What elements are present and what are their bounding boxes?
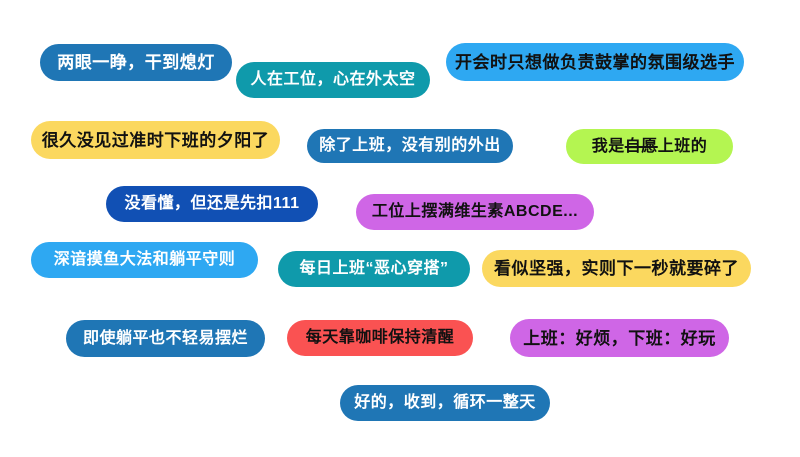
tag-label: 即使躺平也不轻易摆烂	[83, 331, 248, 347]
tag-label: 每天靠咖啡保持清醒	[306, 330, 455, 346]
tag-pill[interactable]: 除了上班，没有别的外出	[307, 129, 513, 163]
tag-label: 很久没见过准时下班的夕阳了	[42, 132, 270, 149]
tag-pill[interactable]: 开会时只想做负责鼓掌的氛围级选手	[446, 43, 744, 81]
tag-label: 我是自愿上班的	[592, 139, 708, 155]
tag-pill[interactable]: 深谙摸鱼大法和躺平守则	[31, 242, 258, 278]
tag-pill[interactable]: 看似坚强，实则下一秒就要碎了	[482, 250, 751, 287]
tag-label: 深谙摸鱼大法和躺平守则	[54, 252, 236, 268]
tag-label: 开会时只想做负责鼓掌的氛围级选手	[455, 54, 735, 71]
tag-cloud-canvas: 两眼一睁，干到熄灯人在工位，心在外太空开会时只想做负责鼓掌的氛围级选手很久没见过…	[0, 0, 800, 457]
tag-label: 两眼一睁，干到熄灯	[57, 54, 215, 71]
tag-label: 好的，收到，循环一整天	[354, 395, 536, 411]
tag-label: 上班：好烦，下班：好玩	[523, 330, 716, 347]
tag-label-suffix: 上班的	[658, 138, 708, 155]
tag-label: 没看懂，但还是先扣111	[125, 196, 300, 212]
tag-pill[interactable]: 很久没见过准时下班的夕阳了	[31, 121, 280, 159]
tag-label: 除了上班，没有别的外出	[319, 138, 501, 154]
tag-pill[interactable]: 没看懂，但还是先扣111	[106, 186, 318, 222]
tag-label: 工位上摆满维生素ABCDE...	[372, 204, 578, 220]
tag-label-prefix: 我是	[592, 138, 625, 155]
tag-pill[interactable]: 两眼一睁，干到熄灯	[40, 44, 232, 81]
tag-pill[interactable]: 即使躺平也不轻易摆烂	[66, 320, 265, 357]
tag-pill[interactable]: 好的，收到，循环一整天	[340, 385, 550, 421]
tag-label: 看似坚强，实则下一秒就要碎了	[494, 260, 739, 277]
tag-label-struck: 自愿	[625, 138, 658, 155]
tag-label: 人在工位，心在外太空	[250, 72, 415, 88]
tag-pill[interactable]: 每天靠咖啡保持清醒	[287, 320, 473, 356]
tag-pill[interactable]: 上班：好烦，下班：好玩	[510, 319, 729, 357]
tag-pill[interactable]: 每日上班“恶心穿搭”	[278, 251, 470, 287]
tag-pill[interactable]: 工位上摆满维生素ABCDE...	[356, 194, 594, 230]
tag-pill[interactable]: 人在工位，心在外太空	[236, 62, 430, 98]
tag-pill[interactable]: 我是自愿上班的	[566, 129, 733, 164]
tag-label: 每日上班“恶心穿搭”	[299, 261, 448, 277]
